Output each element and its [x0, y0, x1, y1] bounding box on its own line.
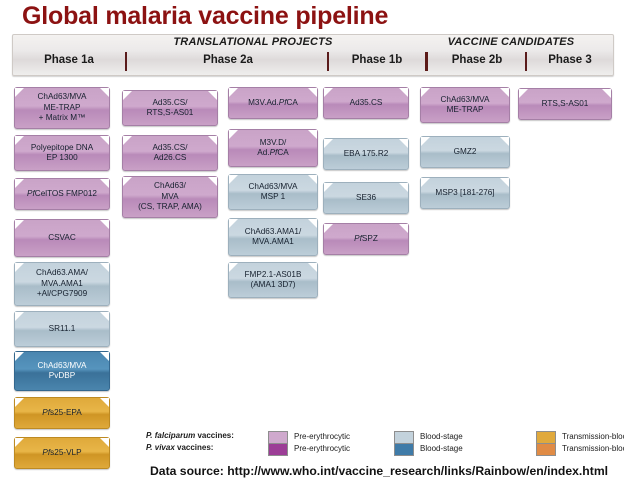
pipeline-box[interactable]: ChAd63/MVAME-TRAP+ Matrix M™ [14, 87, 110, 129]
pipeline-box[interactable]: Ad35.CS [323, 87, 409, 119]
pipeline-box-label: RTS,S-AS01 [542, 99, 589, 110]
pipeline-box[interactable]: SR11.1 [14, 311, 110, 347]
phase-label-3[interactable]: Phase 3 [529, 54, 611, 66]
pipeline-box[interactable]: M3V.D/Ad.PfCA [228, 129, 318, 167]
phase-label-1a[interactable]: Phase 1a [15, 54, 123, 66]
pipeline-box[interactable]: MSP3 [181-276] [420, 177, 510, 209]
pipeline-box-label: SE36 [356, 193, 376, 204]
pipeline-box-label: PfSPZ [354, 234, 378, 245]
pipeline-box-label: FMP2.1-AS01B(AMA1 3D7) [245, 270, 302, 291]
pipeline-box[interactable]: Pfs25-EPA [14, 397, 110, 429]
pipeline-box[interactable]: ChAd63/MVAPvDBP [14, 351, 110, 391]
pipeline-box[interactable]: Ad35.CS/RTS,S-AS01 [122, 90, 218, 126]
header-divider-1 [125, 52, 127, 71]
pipeline-box[interactable]: PfSPZ [323, 223, 409, 255]
pipeline-box[interactable]: CSVAC [14, 219, 110, 257]
phase-label-2a[interactable]: Phase 2a [131, 54, 325, 66]
group-label-translational: TRANSLATIONAL PROJECTS [103, 36, 403, 48]
legend-label: Transmission-blocking [562, 444, 624, 453]
data-source-text: Data source: http://www.who.int/vaccine_… [150, 464, 608, 478]
pipeline-box[interactable]: M3V.Ad.PfCA [228, 87, 318, 119]
pipeline-box-label: PfCelTOS FMP012 [27, 189, 97, 200]
pipeline-box-label: Pfs25-EPA [42, 408, 81, 419]
pipeline-box[interactable]: ChAd63/MVAMSP 1 [228, 174, 318, 210]
pipeline-box[interactable]: RTS,S-AS01 [518, 88, 612, 120]
phase-header-bar: TRANSLATIONAL PROJECTS VACCINE CANDIDATE… [12, 34, 614, 76]
pipeline-box[interactable]: ChAd63/MVAME-TRAP [420, 87, 510, 123]
legend-label: Pre-erythrocytic [294, 444, 350, 453]
pipeline-box-label: MSP3 [181-276] [435, 188, 494, 199]
pipeline-box-label: ChAd63/MVAPvDBP [38, 361, 87, 382]
legend-row-label-falciparum: P. falciparum vaccines: [146, 431, 234, 440]
pipeline-box-label: GMZ2 [454, 147, 477, 158]
pipeline-box[interactable]: Polyepitope DNAEP 1300 [14, 135, 110, 171]
pipeline-box[interactable]: ChAd63/MVA(CS, TRAP, AMA) [122, 176, 218, 218]
pipeline-box-label: ChAd63.AMA1/MVA.AMA1 [245, 227, 301, 248]
pipeline-box[interactable]: EBA 175.R2 [323, 138, 409, 170]
slide-root: Global malaria vaccine pipeline TRANSLAT… [0, 0, 624, 485]
legend-label: Blood-stage [420, 432, 463, 441]
group-label-vaccine-candidates: VACCINE CANDIDATES [413, 36, 609, 48]
legend: P. falciparum vaccines: P. vivax vaccine… [146, 430, 616, 458]
pipeline-box-label: ChAd63.AMA/MVA.AMA1+Al/CPG7909 [36, 268, 88, 300]
header-divider-4 [525, 52, 527, 71]
pipeline-box[interactable]: ChAd63.AMA1/MVA.AMA1 [228, 218, 318, 256]
pipeline-box[interactable]: GMZ2 [420, 136, 510, 168]
pipeline-box-label: ChAd63/MVAMSP 1 [249, 182, 298, 203]
pipeline-box-label: SR11.1 [49, 324, 76, 335]
pipeline-box-label: Polyepitope DNAEP 1300 [31, 143, 93, 164]
pipeline-box-label: ChAd63/MVAME-TRAP+ Matrix M™ [38, 92, 87, 124]
page-title: Global malaria vaccine pipeline [22, 2, 388, 31]
legend-swatch [536, 443, 556, 456]
pipeline-box-label: ChAd63/MVAME-TRAP [441, 95, 490, 116]
legend-swatch [394, 443, 414, 456]
header-divider-2 [327, 52, 329, 71]
pipeline-box[interactable]: FMP2.1-AS01B(AMA1 3D7) [228, 262, 318, 298]
legend-label: Blood-stage [420, 444, 463, 453]
pipeline-box[interactable]: ChAd63.AMA/MVA.AMA1+Al/CPG7909 [14, 262, 110, 306]
header-divider-3 [425, 52, 428, 71]
legend-row-label-vivax: P. vivax vaccines: [146, 443, 213, 452]
pipeline-box[interactable]: Pfs25-VLP [14, 437, 110, 469]
pipeline-box-label: Pfs25-VLP [42, 448, 81, 459]
legend-label: Transmission-blocking [562, 432, 624, 441]
pipeline-box-label: ChAd63/MVA(CS, TRAP, AMA) [138, 181, 202, 213]
pipeline-box-label: EBA 175.R2 [344, 149, 389, 160]
legend-swatch [268, 443, 288, 456]
pipeline-box-label: M3V.D/Ad.PfCA [257, 138, 288, 159]
legend-label: Pre-erythrocytic [294, 432, 350, 441]
phase-label-1b[interactable]: Phase 1b [331, 54, 423, 66]
pipeline-box-label: Ad35.CS/RTS,S-AS01 [147, 98, 194, 119]
pipeline-box-label: M3V.Ad.PfCA [248, 98, 298, 109]
pipeline-box-label: CSVAC [48, 233, 76, 244]
pipeline-box-label: Ad35.CS/Ad26.CS [152, 143, 187, 164]
pipeline-box[interactable]: SE36 [323, 182, 409, 214]
phase-label-2b[interactable]: Phase 2b [431, 54, 523, 66]
pipeline-box[interactable]: Ad35.CS/Ad26.CS [122, 135, 218, 171]
pipeline-box-label: Ad35.CS [350, 98, 383, 109]
pipeline-box[interactable]: PfCelTOS FMP012 [14, 178, 110, 210]
